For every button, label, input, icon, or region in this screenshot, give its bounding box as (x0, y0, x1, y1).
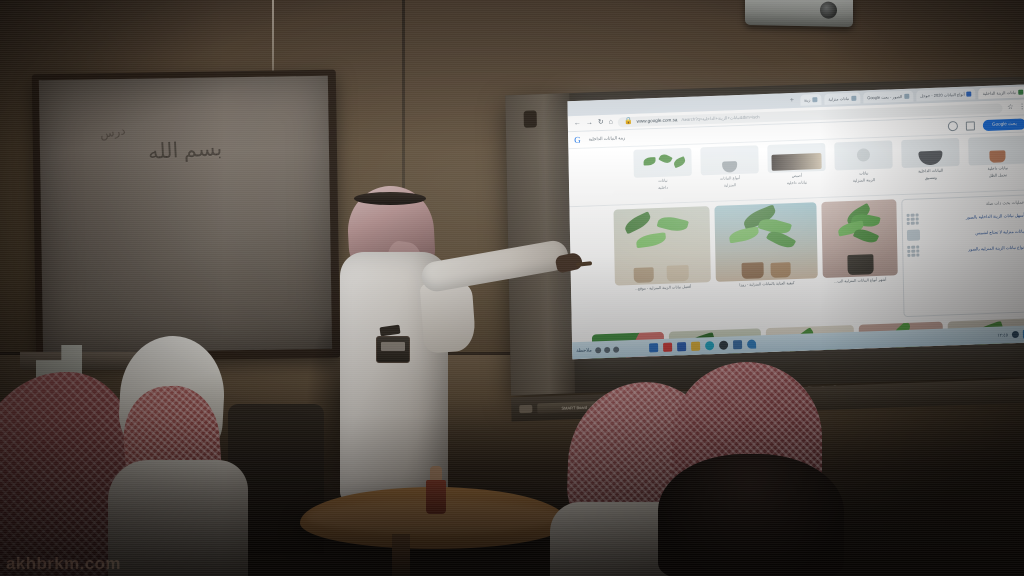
whiteboard-surface: درس بسم الله (39, 76, 332, 354)
taskbar-clock: ١٢:٤٥ (997, 332, 1008, 338)
filter-chip[interactable]: أصيص نباتات داخلية (765, 143, 828, 187)
chip-caption-2: داخلية (658, 186, 668, 191)
tab-favicon-icon (851, 96, 856, 101)
chip-caption: أصيص (792, 174, 802, 179)
taskbar-app-list[interactable] (649, 340, 756, 353)
taskbar-ink-tools[interactable]: ملاحظة (576, 346, 619, 354)
classroom-scene: درس بسم الله نباتات الزينة الداخلية أنوا… (0, 0, 1024, 576)
tab-favicon-icon (967, 91, 972, 96)
image-caption: كيفية العناية بالنباتات المنزلية - روزا (716, 280, 818, 289)
lock-icon: 🔒 (624, 118, 633, 125)
related-searches-card[interactable]: عمليات بحث ذات صلة أسهل نباتات الزينة ال… (901, 194, 1024, 317)
chip-caption: نباتات (658, 179, 667, 184)
browser-tab[interactable]: زينة (800, 94, 822, 106)
plant-illustration (821, 199, 897, 278)
share-icon[interactable] (747, 340, 756, 349)
tab-title: زينة (804, 97, 810, 102)
home-icon[interactable]: ⌂ (609, 119, 613, 126)
related-search-item[interactable]: أنواع نباتات الزينة المنزلية بالصور (907, 242, 1024, 257)
chip-thumbnail (834, 140, 892, 170)
forward-arrow-icon[interactable]: → (586, 119, 593, 126)
search-results-row-1: عمليات بحث ذات صلة أسهل نباتات الزينة ال… (569, 190, 1024, 333)
highlighter-icon[interactable] (613, 346, 619, 352)
teacher (318, 186, 578, 516)
related-search-thumbnail (907, 229, 920, 240)
teacher-pointing-arm (419, 239, 570, 294)
projected-screen[interactable]: نباتات الزينة الداخلية أنواع النباتات 20… (567, 84, 1024, 359)
id-badge-photo (381, 342, 405, 351)
image-thumbnail[interactable] (714, 202, 817, 282)
network-icon[interactable] (1012, 331, 1019, 338)
search-button[interactable]: بحث Google (983, 118, 1024, 131)
eraser-icon[interactable] (604, 346, 610, 352)
student-hair (658, 454, 844, 576)
chip-thumbnail (767, 143, 825, 173)
thumbnail-grid-icon (907, 245, 919, 256)
whiteboard-ink-small: درس (99, 123, 127, 141)
student-right-2 (672, 362, 862, 576)
plant-illustration (714, 202, 817, 282)
tab-favicon-icon (812, 97, 817, 102)
id-badge (376, 336, 410, 363)
google-logo: G (574, 135, 581, 145)
browser-tab[interactable]: نباتات الزينة الداخلية (979, 86, 1024, 99)
student-shoulders (108, 460, 248, 576)
image-result[interactable]: أشهر أنواع النباتات المنزلية الت... (821, 199, 898, 320)
projector-lens-icon (820, 1, 837, 18)
chip-caption-2: الزينة المنزلية (853, 178, 875, 184)
teams-icon[interactable] (705, 341, 714, 350)
chip-caption-2: وتنسيق (925, 176, 937, 181)
address-bar-path: /search?q=نباتات+الزينة+الداخلية&tbm=isc… (681, 114, 759, 122)
image-result[interactable]: أفضل نباتات الزينة المنزلية - موقع... (613, 206, 711, 328)
media-icon[interactable] (733, 340, 742, 349)
screen-hook (524, 110, 537, 127)
browser-tab[interactable]: الصور - بحث Google (863, 91, 913, 104)
address-bar-host: www.google.com.sa (637, 117, 678, 123)
word-icon[interactable] (677, 342, 686, 351)
menu-icon[interactable]: ⋮ (1018, 103, 1024, 110)
tab-favicon-icon (1018, 90, 1023, 95)
chip-thumbnail (633, 148, 691, 178)
related-search-text: نباتات منزلية لا تحتاج لشمس (924, 229, 1024, 238)
whiteboard-ink: بسم الله (147, 136, 222, 165)
pen-icon[interactable] (595, 347, 601, 353)
ink-label: ملاحظة (576, 347, 592, 354)
grid-view-icon[interactable] (966, 121, 975, 130)
filter-chip[interactable]: النباتات الداخلية وتنسيق (899, 138, 962, 182)
folder-icon[interactable] (691, 342, 700, 351)
student-left (108, 336, 240, 576)
object-body (426, 480, 446, 514)
related-searches-header: عمليات بحث ذات صلة (906, 200, 1024, 209)
browser-tab[interactable]: أنواع النباتات 2020 - جوجل (916, 88, 976, 101)
mail-icon[interactable] (663, 343, 672, 352)
chip-caption-2: تحمل الظل (989, 173, 1007, 179)
teacher-agal (354, 192, 426, 205)
watermark: akhbrkm.com (6, 554, 121, 574)
related-search-text: أنواع نباتات الزينة المنزلية بالصور (923, 245, 1024, 254)
tab-favicon-icon (904, 94, 909, 99)
projector-icon (745, 0, 853, 27)
file-explorer-icon[interactable] (649, 343, 658, 352)
related-search-text: أسهل نباتات الزينة الداخلية بالصور (923, 213, 1024, 222)
reload-icon[interactable]: ↻ (598, 119, 604, 126)
chip-caption-2: نباتات داخلية (787, 180, 807, 186)
thumbnail-grid-icon (907, 213, 919, 224)
tab-title: أنواع النباتات 2020 - جوجل (920, 92, 965, 99)
image-thumbnail[interactable] (613, 206, 710, 286)
chip-caption: نباتات (859, 171, 868, 176)
filter-chip[interactable]: نباتات داخلية (631, 148, 694, 192)
taskbar-tray[interactable]: ١٢:٤٥ (997, 329, 1024, 339)
related-search-item[interactable]: أسهل نباتات الزينة الداخلية بالصور (907, 210, 1024, 225)
image-thumbnail[interactable] (821, 199, 897, 278)
chip-caption: النباتات الداخلية (918, 169, 943, 175)
chip-thumbnail (901, 138, 959, 168)
plant-illustration (613, 206, 710, 286)
tab-title: نباتات الزينة الداخلية (983, 90, 1017, 96)
filter-chip[interactable]: نباتات الزينة المنزلية (832, 140, 895, 184)
back-arrow-icon[interactable]: ← (574, 120, 581, 127)
chip-thumbnail (700, 145, 758, 175)
star-icon[interactable]: ☆ (1007, 104, 1013, 111)
chip-caption: نباتات داخلية (988, 166, 1008, 172)
search-tools-label: زينة النباتات الداخلية (589, 135, 626, 142)
filter-chip[interactable]: نباتات داخلية تحمل الظل (966, 135, 1024, 179)
projection-screen-frame: نباتات الزينة الداخلية أنواع النباتات 20… (505, 76, 1024, 395)
toolbar-spacer (633, 127, 940, 138)
teacher-sleeve (420, 280, 477, 353)
lens-icon[interactable] (948, 121, 958, 131)
object-on-table (424, 466, 448, 514)
related-search-item[interactable]: نباتات منزلية لا تحتاج لشمس (907, 226, 1024, 241)
tab-title: الصور - بحث Google (867, 94, 902, 100)
filter-chip[interactable]: أنواع النباتات المنزلية (698, 145, 761, 189)
image-caption: أشهر أنواع النباتات المنزلية الت... (823, 277, 898, 285)
chip-thumbnail (968, 135, 1024, 165)
image-caption: أفضل نباتات الزينة المنزلية - موقع... (615, 284, 711, 292)
tab-title: نباتات منزلية (828, 96, 849, 102)
new-tab-button[interactable]: + (787, 97, 797, 104)
image-result[interactable]: كيفية العناية بالنباتات المنزلية - روزا (714, 202, 818, 324)
chip-caption: أنواع النباتات (720, 176, 740, 182)
browser-tab[interactable]: نباتات منزلية (824, 93, 860, 105)
chip-caption-2: المنزلية (724, 183, 736, 188)
table-leg (392, 534, 410, 576)
whiteboard: درس بسم الله (32, 70, 340, 363)
browser-icon[interactable] (719, 341, 728, 350)
